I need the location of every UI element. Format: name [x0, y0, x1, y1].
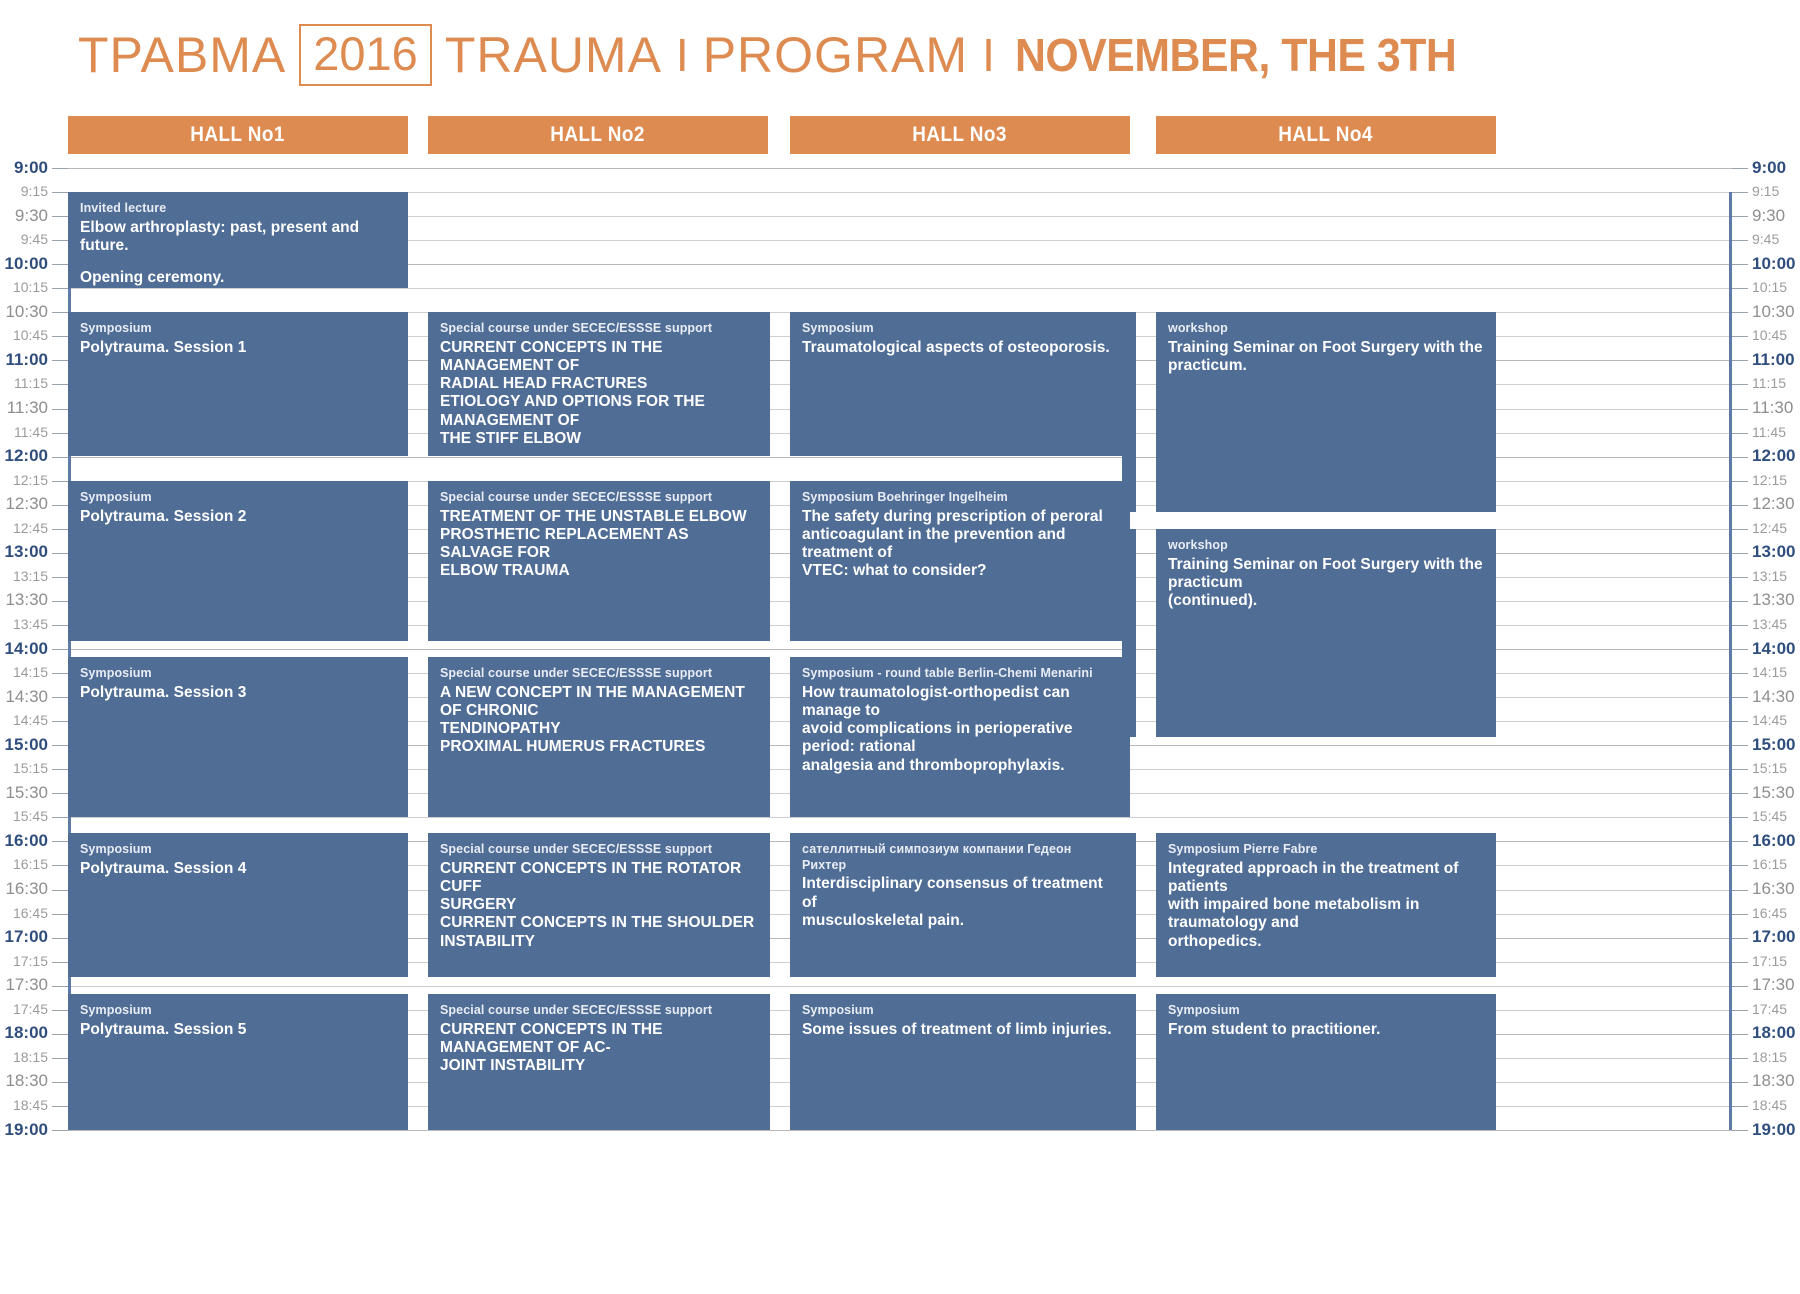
- time-label-left: 11:15: [14, 376, 48, 390]
- axis-tick-left: [52, 914, 68, 915]
- session-spine: [394, 833, 408, 977]
- axis-tick-left: [52, 264, 68, 265]
- session-title: From student to practitioner.: [1168, 1021, 1484, 1039]
- session-title: Integrated approach in the treatment of …: [1168, 860, 1484, 951]
- session-title-line: A NEW CONCEPT IN THE MANAGEMENT OF CHRON…: [440, 684, 756, 721]
- hall-header-2[interactable]: HALL No2: [428, 116, 768, 154]
- time-label-left: 16:15: [13, 857, 48, 871]
- axis-tick-left: [52, 288, 68, 289]
- time-label-right: 15:45: [1752, 809, 1787, 823]
- time-label-right: 19:00: [1752, 1121, 1795, 1138]
- time-label-right: 13:15: [1752, 569, 1787, 583]
- axis-tick-right: [1732, 673, 1748, 674]
- session-block[interactable]: SymposiumPolytrauma. Session 5: [68, 994, 408, 1130]
- axis-tick-right: [1732, 312, 1748, 313]
- axis-tick-left: [52, 890, 68, 891]
- session-title-line: Polytrauma. Session 2: [80, 508, 396, 526]
- session-content: Special course under SECEC/ESSSE support…: [428, 657, 768, 765]
- gridline: [68, 986, 1732, 987]
- time-label-right: 12:30: [1752, 495, 1795, 512]
- session-title: Some issues of treatment of limb injurie…: [802, 1021, 1118, 1039]
- axis-tick-left: [52, 1058, 68, 1059]
- hall-header-label: HALL No3: [913, 123, 1008, 147]
- session-kicker: Symposium: [802, 321, 1118, 337]
- time-label-left: 14:30: [5, 688, 48, 705]
- axis-tick-right: [1732, 625, 1748, 626]
- axis-tick-left: [52, 168, 68, 169]
- time-label-left: 11:30: [7, 399, 48, 416]
- session-title-line: practicum.: [1168, 357, 1484, 375]
- session-block[interactable]: SymposiumTraumatological aspects of oste…: [790, 312, 1130, 456]
- session-block[interactable]: workshopTraining Seminar on Foot Surgery…: [1156, 529, 1496, 737]
- axis-tick-right: [1732, 962, 1748, 963]
- axis-tick-left: [52, 409, 68, 410]
- time-label-right: 14:15: [1752, 665, 1787, 679]
- time-label-right: 14:00: [1752, 640, 1795, 657]
- time-label-right: 11:15: [1752, 376, 1786, 390]
- axis-tick-right: [1732, 168, 1748, 169]
- time-label-left: 9:00: [14, 159, 48, 176]
- session-kicker: Symposium: [80, 490, 396, 506]
- time-label-left: 13:00: [5, 543, 48, 560]
- axis-tick-left: [52, 457, 68, 458]
- axis-tick-left: [52, 553, 68, 554]
- hall-header-label: HALL No2: [551, 123, 646, 147]
- axis-tick-left: [52, 721, 68, 722]
- axis-tick-left: [52, 601, 68, 602]
- session-title-line: Integrated approach in the treatment of …: [1168, 860, 1484, 897]
- session-content: Special course under SECEC/ESSSE support…: [428, 994, 768, 1083]
- time-label-left: 17:15: [13, 954, 48, 968]
- session-kicker: Special course under SECEC/ESSSE support: [440, 490, 756, 506]
- axis-tick-left: [52, 505, 68, 506]
- session-spine: [756, 994, 770, 1130]
- time-label-left: 10:15: [13, 280, 48, 294]
- time-label-right: 10:45: [1752, 328, 1787, 342]
- axis-tick-right: [1732, 914, 1748, 915]
- time-label-left: 12:00: [5, 447, 48, 464]
- session-content: Symposium Boehringer IngelheimThe safety…: [790, 481, 1130, 589]
- time-label-right: 15:15: [1752, 761, 1787, 775]
- session-title-line: analgesia and thromboprophylaxis.: [802, 757, 1118, 775]
- axis-tick-right: [1732, 938, 1748, 939]
- session-title: Polytrauma. Session 1: [80, 339, 396, 357]
- gridline: [68, 1130, 1732, 1131]
- time-label-left: 15:45: [13, 809, 48, 823]
- session-content: Invited lectureElbow arthroplasty: past,…: [68, 192, 408, 288]
- axis-tick-left: [52, 841, 68, 842]
- session-title-line: SURGERY: [440, 896, 756, 914]
- session-title-line: RADIAL HEAD FRACTURES: [440, 375, 756, 393]
- gridline: [68, 288, 1732, 289]
- session-title: Polytrauma. Session 4: [80, 860, 396, 878]
- time-label-left: 15:15: [13, 761, 48, 775]
- axis-tick-right: [1732, 1034, 1748, 1035]
- axis-tick-right: [1732, 986, 1748, 987]
- axis-tick-right: [1732, 1082, 1748, 1083]
- axis-tick-right: [1732, 890, 1748, 891]
- time-label-left: 16:30: [5, 880, 48, 897]
- session-title: Elbow arthroplasty: past, present and fu…: [80, 219, 396, 288]
- session-title: CURRENT CONCEPTS IN THE ROTATOR CUFFSURG…: [440, 860, 756, 951]
- axis-tick-right: [1732, 745, 1748, 746]
- time-label-right: 9:00: [1752, 159, 1786, 176]
- session-title-spacer: [80, 255, 396, 269]
- session-kicker: сателлитный симпозиум компании Гедеон Ри…: [802, 842, 1118, 873]
- session-content: Special course under SECEC/ESSSE support…: [428, 481, 768, 589]
- time-label-right: 16:45: [1752, 906, 1787, 920]
- session-title: Polytrauma. Session 5: [80, 1021, 396, 1039]
- session-title-line: The safety during prescription of perora…: [802, 508, 1118, 526]
- session-content: SymposiumSome issues of treatment of lim…: [790, 994, 1130, 1047]
- time-label-right: 17:15: [1752, 954, 1787, 968]
- axis-tick-left: [52, 986, 68, 987]
- axis-tick-right: [1732, 336, 1748, 337]
- schedule-grid: 9:009:009:159:159:309:309:459:4510:0010:…: [0, 160, 1800, 1294]
- session-content: SymposiumTraumatological aspects of oste…: [790, 312, 1130, 365]
- session-block[interactable]: Special course under SECEC/ESSSE support…: [428, 657, 768, 817]
- axis-tick-right: [1732, 433, 1748, 434]
- time-label-left: 9:15: [21, 184, 48, 198]
- time-label-right: 10:00: [1752, 255, 1795, 272]
- time-label-right: 12:15: [1752, 473, 1787, 487]
- session-title-line: PROXIMAL HUMERUS FRACTURES: [440, 738, 756, 756]
- session-title: TREATMENT OF THE UNSTABLE ELBOWPROSTHETI…: [440, 508, 756, 581]
- time-label-right: 16:00: [1752, 832, 1795, 849]
- axis-tick-right: [1732, 601, 1748, 602]
- session-spine: [394, 657, 408, 817]
- time-label-left: 9:30: [15, 207, 48, 224]
- session-title-line: CURRENT CONCEPTS IN THE MANAGEMENT OF AC…: [440, 1021, 756, 1058]
- session-spine: [1122, 833, 1136, 977]
- axis-tick-right: [1732, 384, 1748, 385]
- time-label-right: 15:00: [1752, 736, 1795, 753]
- axis-tick-right: [1732, 841, 1748, 842]
- axis-tick-left: [52, 216, 68, 217]
- session-title-line: anticoagulant in the prevention and trea…: [802, 526, 1118, 563]
- session-title: Traumatological aspects of osteoporosis.: [802, 339, 1118, 357]
- hall-header-label: HALL No4: [1279, 123, 1374, 147]
- session-title-line: ELBOW TRAUMA: [440, 562, 756, 580]
- session-title-line: musculoskeletal pain.: [802, 912, 1118, 930]
- session-block[interactable]: workshopTraining Seminar on Foot Surgery…: [1156, 312, 1496, 512]
- session-block[interactable]: SymposiumPolytrauma. Session 1: [68, 312, 408, 456]
- session-title-line: From student to practitioner.: [1168, 1021, 1484, 1039]
- program-title: ТРАВМА 2016 TRAUMA I PROGRAM I NOVEMBER,…: [78, 22, 1489, 88]
- session-content: Symposium - round table Berlin-Chemi Men…: [790, 657, 1130, 783]
- session-spine: [756, 481, 770, 641]
- hall-header-3[interactable]: HALL No3: [790, 116, 1130, 154]
- session-title: Polytrauma. Session 2: [80, 508, 396, 526]
- axis-tick-right: [1732, 240, 1748, 241]
- time-label-right: 10:30: [1752, 303, 1795, 320]
- axis-tick-left: [52, 745, 68, 746]
- session-title: How traumatologist-orthopedist can manag…: [802, 684, 1118, 775]
- session-title: Polytrauma. Session 3: [80, 684, 396, 702]
- axis-tick-left: [52, 1034, 68, 1035]
- time-label-left: 18:00: [5, 1024, 48, 1041]
- time-label-left: 17:30: [5, 976, 48, 993]
- axis-tick-left: [52, 1106, 68, 1107]
- axis-tick-left: [52, 649, 68, 650]
- session-title-line: with impaired bone metabolism in traumat…: [1168, 896, 1484, 933]
- gridline: [68, 168, 1732, 169]
- axis-tick-right: [1732, 721, 1748, 722]
- session-content: Special course under SECEC/ESSSE support…: [428, 833, 768, 959]
- session-block[interactable]: Invited lectureElbow arthroplasty: past,…: [68, 192, 408, 288]
- session-kicker: Symposium: [80, 321, 396, 337]
- title-program-word: PROGRAM: [703, 30, 968, 80]
- axis-tick-right: [1732, 216, 1748, 217]
- time-label-left: 19:00: [5, 1121, 48, 1138]
- session-kicker: Special course under SECEC/ESSSE support: [440, 842, 756, 858]
- time-label-right: 15:30: [1752, 784, 1795, 801]
- axis-tick-left: [52, 336, 68, 337]
- time-label-right: 16:30: [1752, 880, 1795, 897]
- session-content: SymposiumPolytrauma. Session 3: [68, 657, 408, 710]
- session-kicker: Symposium: [80, 842, 396, 858]
- session-spine: [756, 657, 770, 817]
- session-content: Special course under SECEC/ESSSE support…: [428, 312, 768, 456]
- session-kicker: Invited lecture: [80, 201, 396, 217]
- session-title-line: orthopedics.: [1168, 933, 1484, 951]
- axis-tick-left: [52, 312, 68, 313]
- time-label-right: 12:00: [1752, 447, 1795, 464]
- axis-tick-right: [1732, 457, 1748, 458]
- hall-header-4[interactable]: HALL No4: [1156, 116, 1496, 154]
- session-kicker: Symposium - round table Berlin-Chemi Men…: [802, 666, 1118, 682]
- session-block[interactable]: SymposiumPolytrauma. Session 4: [68, 833, 408, 977]
- session-kicker: Symposium Boehringer Ingelheim: [802, 490, 1118, 506]
- time-label-left: 13:45: [13, 617, 48, 631]
- axis-tick-right: [1732, 865, 1748, 866]
- time-label-left: 10:30: [5, 303, 48, 320]
- axis-tick-left: [52, 529, 68, 530]
- session-block[interactable]: Special course under SECEC/ESSSE support…: [428, 994, 768, 1130]
- time-label-right: 14:45: [1752, 713, 1787, 727]
- title-separator-1: I: [676, 32, 689, 78]
- session-title-line: ETIOLOGY AND OPTIONS FOR THE MANAGEMENT …: [440, 393, 756, 430]
- hall-header-label: HALL No1: [191, 123, 286, 147]
- time-label-left: 14:45: [13, 713, 48, 727]
- session-block[interactable]: Symposium - round table Berlin-Chemi Men…: [790, 657, 1130, 817]
- session-content: Symposium Pierre FabreIntegrated approac…: [1156, 833, 1496, 959]
- session-title-line: How traumatologist-orthopedist can manag…: [802, 684, 1118, 721]
- brand-latin: TRAUMA: [445, 30, 662, 80]
- axis-tick-left: [52, 384, 68, 385]
- session-title: CURRENT CONCEPTS IN THE MANAGEMENT OF AC…: [440, 1021, 756, 1076]
- session-title-line: Some issues of treatment of limb injurie…: [802, 1021, 1118, 1039]
- session-title-line: JOINT INSTABILITY: [440, 1057, 756, 1075]
- session-content: SymposiumPolytrauma. Session 4: [68, 833, 408, 886]
- axis-tick-left: [52, 817, 68, 818]
- axis-tick-left: [52, 240, 68, 241]
- session-title-line: Training Seminar on Foot Surgery with th…: [1168, 339, 1484, 357]
- axis-tick-left: [52, 1082, 68, 1083]
- axis-tick-left: [52, 962, 68, 963]
- session-title: Training Seminar on Foot Surgery with th…: [1168, 339, 1484, 376]
- time-label-right: 11:45: [1752, 425, 1786, 439]
- time-label-left: 14:00: [5, 640, 48, 657]
- time-label-left: 12:15: [13, 473, 48, 487]
- session-block[interactable]: Special course under SECEC/ESSSE support…: [428, 833, 768, 977]
- brand-cyrillic: ТРАВМА: [78, 30, 286, 80]
- axis-tick-left: [52, 865, 68, 866]
- time-label-left: 15:00: [5, 736, 48, 753]
- session-content: сателлитный симпозиум компании Гедеон Ри…: [790, 833, 1130, 938]
- axis-tick-right: [1732, 649, 1748, 650]
- time-label-right: 18:30: [1752, 1072, 1795, 1089]
- session-title-line: PROSTHETIC REPLACEMENT AS SALVAGE FOR: [440, 526, 756, 563]
- session-kicker: Symposium: [1168, 1003, 1484, 1019]
- time-label-right: 18:45: [1752, 1098, 1787, 1112]
- session-block[interactable]: SymposiumSome issues of treatment of lim…: [790, 994, 1130, 1130]
- session-block[interactable]: SymposiumFrom student to practitioner.: [1156, 994, 1496, 1130]
- axis-tick-right: [1732, 1010, 1748, 1011]
- time-label-right: 17:30: [1752, 976, 1795, 993]
- axis-tick-right: [1732, 817, 1748, 818]
- time-label-left: 18:15: [13, 1050, 48, 1064]
- session-block[interactable]: Symposium Pierre FabreIntegrated approac…: [1156, 833, 1496, 977]
- hall-header-1[interactable]: HALL No1: [68, 116, 408, 154]
- time-label-left: 17:45: [13, 1002, 48, 1016]
- time-label-right: 18:15: [1752, 1050, 1787, 1064]
- session-kicker: Special course under SECEC/ESSSE support: [440, 1003, 756, 1019]
- session-title: A NEW CONCEPT IN THE MANAGEMENT OF CHRON…: [440, 684, 756, 757]
- title-separator-2: I: [982, 32, 995, 78]
- time-label-right: 14:30: [1752, 688, 1795, 705]
- axis-tick-right: [1732, 505, 1748, 506]
- time-label-right: 17:45: [1752, 1002, 1787, 1016]
- time-label-right: 13:45: [1752, 617, 1787, 631]
- session-kicker: Symposium: [80, 1003, 396, 1019]
- session-spine: [394, 481, 408, 641]
- session-title: The safety during prescription of perora…: [802, 508, 1118, 581]
- axis-tick-right: [1732, 553, 1748, 554]
- session-block[interactable]: Special course under SECEC/ESSSE support…: [428, 312, 768, 456]
- session-title-line: THE STIFF ELBOW: [440, 430, 756, 448]
- axis-tick-left: [52, 433, 68, 434]
- axis-tick-left: [52, 793, 68, 794]
- session-block[interactable]: сателлитный симпозиум компании Гедеон Ри…: [790, 833, 1130, 977]
- axis-tick-left: [52, 577, 68, 578]
- time-label-right: 17:00: [1752, 928, 1795, 945]
- time-label-right: 9:45: [1752, 232, 1779, 246]
- session-title-line: Elbow arthroplasty: past, present and fu…: [80, 219, 396, 256]
- time-label-left: 18:45: [13, 1098, 48, 1112]
- session-title-line: Training Seminar on Foot Surgery with th…: [1168, 556, 1484, 593]
- time-label-left: 16:00: [5, 832, 48, 849]
- axis-tick-right: [1732, 360, 1748, 361]
- time-label-left: 13:15: [13, 569, 48, 583]
- session-content: workshopTraining Seminar on Foot Surgery…: [1156, 529, 1496, 618]
- masthead: ТРАВМА 2016 TRAUMA I PROGRAM I NOVEMBER,…: [0, 0, 1800, 104]
- time-label-right: 13:00: [1752, 543, 1795, 560]
- axis-tick-right: [1732, 529, 1748, 530]
- axis-tick-right: [1732, 481, 1748, 482]
- axis-rail-right: [1729, 192, 1732, 1130]
- session-title-line: CURRENT CONCEPTS IN THE SHOULDER INSTABI…: [440, 914, 756, 951]
- session-spine: [756, 833, 770, 977]
- axis-tick-right: [1732, 264, 1748, 265]
- session-title-line: Polytrauma. Session 3: [80, 684, 396, 702]
- brand-year: 2016: [299, 24, 432, 86]
- axis-tick-left: [52, 1010, 68, 1011]
- session-spine: [1122, 994, 1136, 1130]
- session-title-line: avoid complications in perioperative per…: [802, 720, 1118, 757]
- time-label-right: 9:30: [1752, 207, 1785, 224]
- time-label-left: 11:45: [14, 425, 48, 439]
- axis-tick-left: [52, 769, 68, 770]
- session-kicker: Special course under SECEC/ESSSE support: [440, 666, 756, 682]
- time-label-right: 16:15: [1752, 857, 1787, 871]
- session-kicker: Symposium: [80, 666, 396, 682]
- time-label-left: 17:00: [5, 928, 48, 945]
- session-spine: [394, 994, 408, 1130]
- session-kicker: workshop: [1168, 538, 1484, 554]
- axis-tick-right: [1732, 192, 1748, 193]
- session-kicker: Symposium Pierre Fabre: [1168, 842, 1484, 858]
- axis-tick-right: [1732, 769, 1748, 770]
- time-label-right: 9:15: [1752, 184, 1779, 198]
- session-block[interactable]: SymposiumPolytrauma. Session 2: [68, 481, 408, 641]
- axis-tick-left: [52, 481, 68, 482]
- session-title-line: TREATMENT OF THE UNSTABLE ELBOW: [440, 508, 756, 526]
- session-content: SymposiumPolytrauma. Session 2: [68, 481, 408, 534]
- session-spine: [394, 312, 408, 456]
- time-label-left: 12:45: [13, 521, 48, 535]
- axis-tick-right: [1732, 697, 1748, 698]
- axis-tick-right: [1732, 1058, 1748, 1059]
- session-title-line: Polytrauma. Session 1: [80, 339, 396, 357]
- time-label-right: 11:00: [1752, 351, 1795, 368]
- axis-tick-right: [1732, 1130, 1748, 1131]
- session-kicker: Symposium: [802, 1003, 1118, 1019]
- axis-tick-left: [52, 625, 68, 626]
- session-block[interactable]: Symposium Boehringer IngelheimThe safety…: [790, 481, 1130, 641]
- time-label-left: 10:00: [5, 255, 48, 272]
- axis-tick-left: [52, 673, 68, 674]
- gridline: [68, 817, 1732, 818]
- time-label-left: 11:00: [5, 351, 48, 368]
- session-spine: [1122, 312, 1136, 512]
- session-title-line: CURRENT CONCEPTS IN THE ROTATOR CUFF: [440, 860, 756, 897]
- time-label-left: 15:30: [5, 784, 48, 801]
- session-content: SymposiumPolytrauma. Session 5: [68, 994, 408, 1047]
- session-block[interactable]: Special course under SECEC/ESSSE support…: [428, 481, 768, 641]
- hall-header-row: HALL No1HALL No2HALL No3HALL No4: [0, 116, 1800, 156]
- session-title: Interdisciplinary consensus of treatment…: [802, 875, 1118, 930]
- session-content: workshopTraining Seminar on Foot Surgery…: [1156, 312, 1496, 383]
- axis-tick-right: [1732, 409, 1748, 410]
- time-label-left: 13:30: [5, 591, 48, 608]
- session-title-line: Polytrauma. Session 4: [80, 860, 396, 878]
- axis-tick-right: [1732, 577, 1748, 578]
- session-title: CURRENT CONCEPTS IN THE MANAGEMENT OFRAD…: [440, 339, 756, 449]
- session-block[interactable]: SymposiumPolytrauma. Session 3: [68, 657, 408, 817]
- axis-tick-left: [52, 360, 68, 361]
- axis-tick-right: [1732, 793, 1748, 794]
- axis-tick-left: [52, 938, 68, 939]
- axis-tick-left: [52, 1130, 68, 1131]
- session-title-line: TENDINOPATHY: [440, 720, 756, 738]
- time-label-left: 12:30: [5, 495, 48, 512]
- axis-tick-left: [52, 192, 68, 193]
- session-spine: [756, 312, 770, 456]
- time-label-left: 16:45: [13, 906, 48, 920]
- session-kicker: Special course under SECEC/ESSSE support: [440, 321, 756, 337]
- session-title-line: CURRENT CONCEPTS IN THE MANAGEMENT OF: [440, 339, 756, 376]
